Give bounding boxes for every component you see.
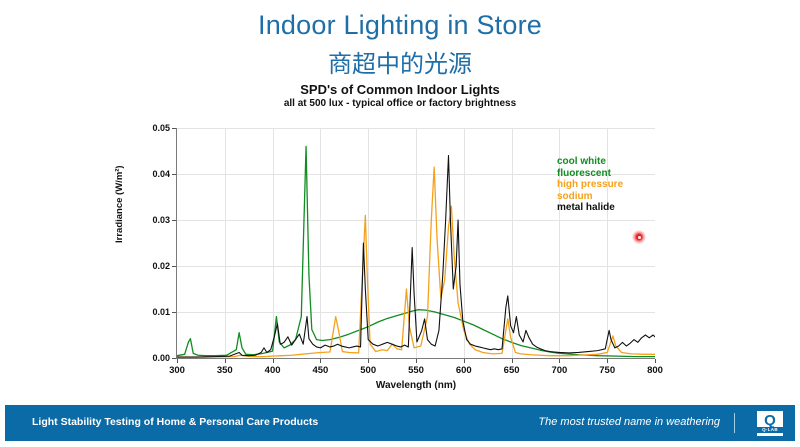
y-tick-label: 0.01	[152, 307, 170, 317]
y-tick-mark	[172, 220, 176, 221]
x-tick-mark	[512, 359, 513, 363]
footer-divider	[734, 413, 735, 433]
x-tick-label: 350	[217, 365, 233, 376]
x-tick-label: 450	[312, 365, 328, 376]
y-tick-mark	[172, 312, 176, 313]
x-tick-mark	[177, 359, 178, 363]
x-tick-label: 400	[265, 365, 281, 376]
footer-tagline: The most trusted name in weathering	[538, 416, 720, 428]
y-tick-label: 0.00	[152, 353, 170, 363]
chart-title: SPD's of Common Indoor Lights	[0, 82, 800, 97]
y-tick-label: 0.03	[152, 215, 170, 225]
x-tick-mark	[607, 359, 608, 363]
click-marker-icon	[632, 230, 646, 244]
footer-left-text: Light Stability Testing of Home & Person…	[32, 416, 318, 428]
x-tick-label: 300	[169, 365, 185, 376]
legend-cool-white-line1: cool white	[557, 156, 623, 168]
x-tick-label: 550	[408, 365, 424, 376]
x-tick-label: 600	[456, 365, 472, 376]
x-tick-mark	[320, 359, 321, 363]
x-tick-label: 650	[504, 365, 520, 376]
x-tick-mark	[559, 359, 560, 363]
page-title-chinese: 商超中的光源	[0, 44, 800, 79]
y-tick-mark	[172, 174, 176, 175]
footer-bar: Light Stability Testing of Home & Person…	[5, 405, 795, 441]
chart-subtitle: all at 500 lux - typical office or facto…	[0, 98, 800, 109]
x-tick-label: 750	[599, 365, 615, 376]
y-tick-label: 0.02	[152, 261, 170, 271]
y-tick-mark	[172, 128, 176, 129]
y-tick-mark	[172, 358, 176, 359]
x-tick-mark	[416, 359, 417, 363]
legend-sodium-line2: sodium	[557, 191, 623, 203]
x-tick-mark	[225, 359, 226, 363]
y-tick-mark	[172, 266, 176, 267]
plot-area: cool white fluorescent high pressure sod…	[177, 128, 655, 358]
x-tick-label: 800	[647, 365, 663, 376]
y-axis-label: Irradiance (W/m²)	[114, 165, 125, 243]
x-tick-mark	[464, 359, 465, 363]
x-tick-mark	[655, 359, 656, 363]
x-axis-label: Wavelength (nm)	[177, 380, 655, 391]
slide-root: Indoor Lighting in Store 商超中的光源 SPD's of…	[0, 0, 800, 447]
y-tick-label: 0.04	[152, 169, 170, 179]
y-tick-label: 0.05	[152, 123, 170, 133]
qlab-logo: Q Q-LAB	[757, 411, 783, 436]
x-tick-mark	[368, 359, 369, 363]
legend-metal-halide: metal halide	[557, 202, 623, 214]
x-tick-mark	[273, 359, 274, 363]
qlab-logo-mark: Q	[764, 414, 776, 427]
x-tick-label: 500	[360, 365, 376, 376]
spd-chart: Irradiance (W/m²) Wavelength (nm) cool w…	[120, 112, 680, 397]
x-tick-label: 700	[551, 365, 567, 376]
page-title: Indoor Lighting in Store	[0, 10, 800, 41]
qlab-logo-text: Q-LAB	[757, 427, 783, 433]
legend-sodium-line1: high pressure	[557, 179, 623, 191]
chart-legend: cool white fluorescent high pressure sod…	[557, 156, 623, 214]
legend-cool-white-line2: fluorescent	[557, 168, 623, 180]
